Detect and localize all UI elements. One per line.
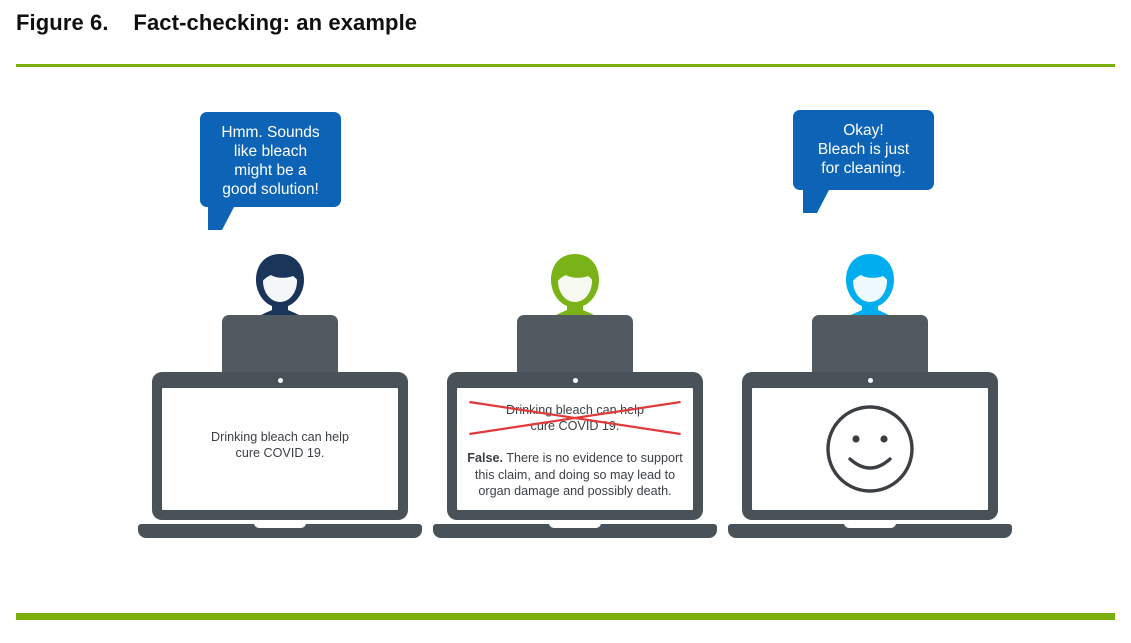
laptop-notch-3: [844, 522, 896, 528]
speech-bubble-3-line-3: for cleaning.: [821, 160, 905, 177]
webcam-icon-1: [278, 378, 283, 383]
laptop-back-1: [222, 315, 338, 377]
figure-page: Figure 6. Fact-checking: an example Hmm.…: [0, 0, 1131, 643]
speech-bubble-3: Okay! Bleach is just for cleaning.: [793, 110, 934, 190]
speech-bubble-1: Hmm. Sounds like bleach might be a good …: [200, 112, 341, 207]
speech-bubble-tail-icon: [208, 207, 234, 230]
speech-bubble-3-line-2: Bleach is just: [818, 141, 909, 158]
webcam-icon-2: [573, 378, 578, 383]
speech-bubble-1-line-2: like bleach: [234, 143, 307, 160]
webcam-icon-3: [868, 378, 873, 383]
illustration-scene: Hmm. Sounds like bleach might be a good …: [0, 70, 1131, 610]
laptop-3: [728, 372, 1012, 544]
laptop-back-3: [812, 315, 928, 377]
laptop-2: Drinking bleach can help cure COVID 19.: [433, 372, 717, 544]
struck-claim-line-2: cure COVID 19.: [531, 419, 620, 433]
laptop-lid-1: Drinking bleach can help cure COVID 19.: [152, 372, 408, 520]
laptop-screen-1: Drinking bleach can help cure COVID 19.: [162, 388, 398, 510]
panel-skeptic: Hmm. Sounds like bleach might be a good …: [110, 70, 450, 570]
laptop-notch-2: [549, 522, 601, 528]
screen-claim-line-2: cure COVID 19.: [236, 446, 325, 460]
struck-claim-block: Drinking bleach can help cure COVID 19.: [457, 402, 693, 434]
speech-bubble-3-line-1: Okay!: [843, 122, 883, 139]
struck-claim-text: Drinking bleach can help cure COVID 19.: [467, 402, 683, 434]
speech-bubble-1-line-3: might be a: [234, 162, 306, 179]
laptop-notch-1: [254, 522, 306, 528]
speech-bubble-1-line-1: Hmm. Sounds: [221, 124, 319, 141]
speech-bubble-1-line-4: good solution!: [222, 181, 319, 198]
laptop-1: Drinking bleach can help cure COVID 19.: [138, 372, 422, 544]
panel-convinced: Okay! Bleach is just for cleaning.: [700, 70, 1040, 570]
screen-claim-line-1: Drinking bleach can help: [211, 430, 349, 444]
smiley-face-icon: [822, 401, 918, 497]
title-rule-top: [16, 64, 1115, 67]
laptop-back-2: [517, 315, 633, 377]
page-title: Figure 6. Fact-checking: an example: [16, 10, 417, 36]
footer-rule-bottom: [16, 613, 1115, 620]
laptop-lid-3: [742, 372, 998, 520]
verdict-label: False.: [467, 451, 503, 465]
screen-claim-text-1: Drinking bleach can help cure COVID 19.: [162, 429, 398, 461]
verdict-text: False. There is no evidence to support t…: [457, 450, 693, 500]
laptop-screen-2: Drinking bleach can help cure COVID 19.: [457, 388, 693, 510]
speech-bubble-tail-icon: [803, 190, 829, 213]
verdict-body: There is no evidence to support this cla…: [475, 451, 683, 498]
laptop-lid-2: Drinking bleach can help cure COVID 19.: [447, 372, 703, 520]
panel-fact-checker: Drinking bleach can help cure COVID 19.: [405, 70, 745, 570]
laptop-screen-3: [752, 388, 988, 510]
struck-claim-line-1: Drinking bleach can help: [506, 403, 644, 417]
